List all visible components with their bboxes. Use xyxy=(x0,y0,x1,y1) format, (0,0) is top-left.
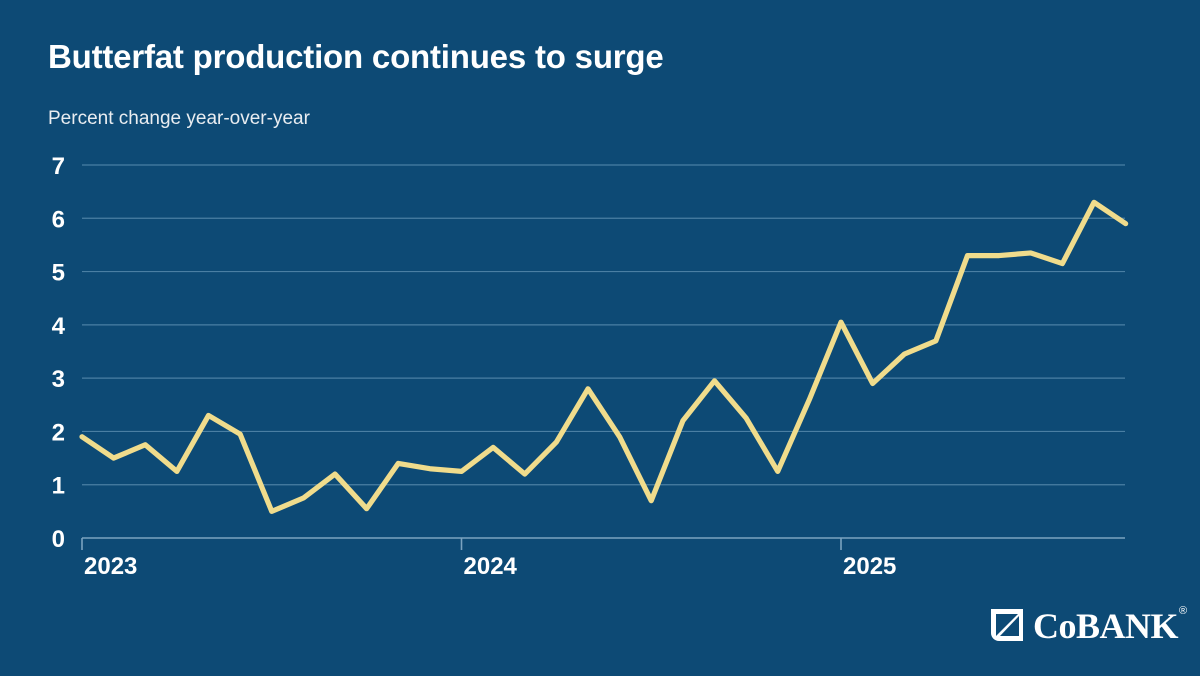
data-series-line xyxy=(82,202,1126,511)
y-axis-tick-label: 1 xyxy=(52,473,65,500)
y-axis-tick-label: 6 xyxy=(52,206,65,233)
y-axis-tick-label: 5 xyxy=(52,260,65,287)
x-axis-tick-label: 2023 xyxy=(84,553,137,580)
cobank-square-icon xyxy=(988,606,1026,644)
x-axis-tick-label: 2024 xyxy=(464,553,518,580)
y-axis-tick-label: 0 xyxy=(52,526,65,553)
line-chart: 01234567 202320242025 xyxy=(0,0,1200,676)
x-axis-tick-labels: 202320242025 xyxy=(84,553,896,580)
cobank-logo: CoBANK ® xyxy=(988,603,1186,647)
x-axis xyxy=(82,538,841,550)
registered-trademark-icon: ® xyxy=(1179,605,1187,617)
y-axis-tick-label: 7 xyxy=(52,153,65,180)
gridlines xyxy=(82,165,1125,538)
y-axis-tick-label: 2 xyxy=(52,419,65,446)
y-axis-tick-label: 3 xyxy=(52,366,65,393)
cobank-logo-text: CoBANK xyxy=(1033,608,1178,644)
chart-page: Butterfat production continues to surge … xyxy=(0,0,1200,676)
y-axis-tick-label: 4 xyxy=(52,313,66,340)
y-axis-tick-labels: 01234567 xyxy=(52,153,66,553)
x-axis-tick-label: 2025 xyxy=(843,553,896,580)
